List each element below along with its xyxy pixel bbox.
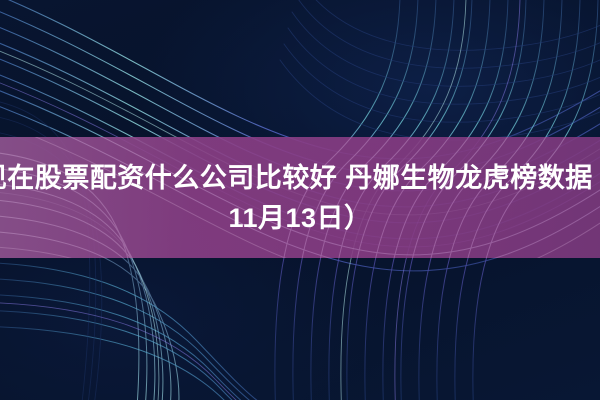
headline-block: 现在股票配资什么公司比较好 丹娜生物龙虎榜数据（ 11月13日） — [0, 137, 600, 258]
headline-line-2: 11月13日） — [228, 198, 371, 238]
headline-line-1: 现在股票配资什么公司比较好 丹娜生物龙虎榜数据（ — [0, 158, 600, 198]
article-banner: 现在股票配资什么公司比较好 丹娜生物龙虎榜数据（ 11月13日） — [0, 0, 600, 400]
